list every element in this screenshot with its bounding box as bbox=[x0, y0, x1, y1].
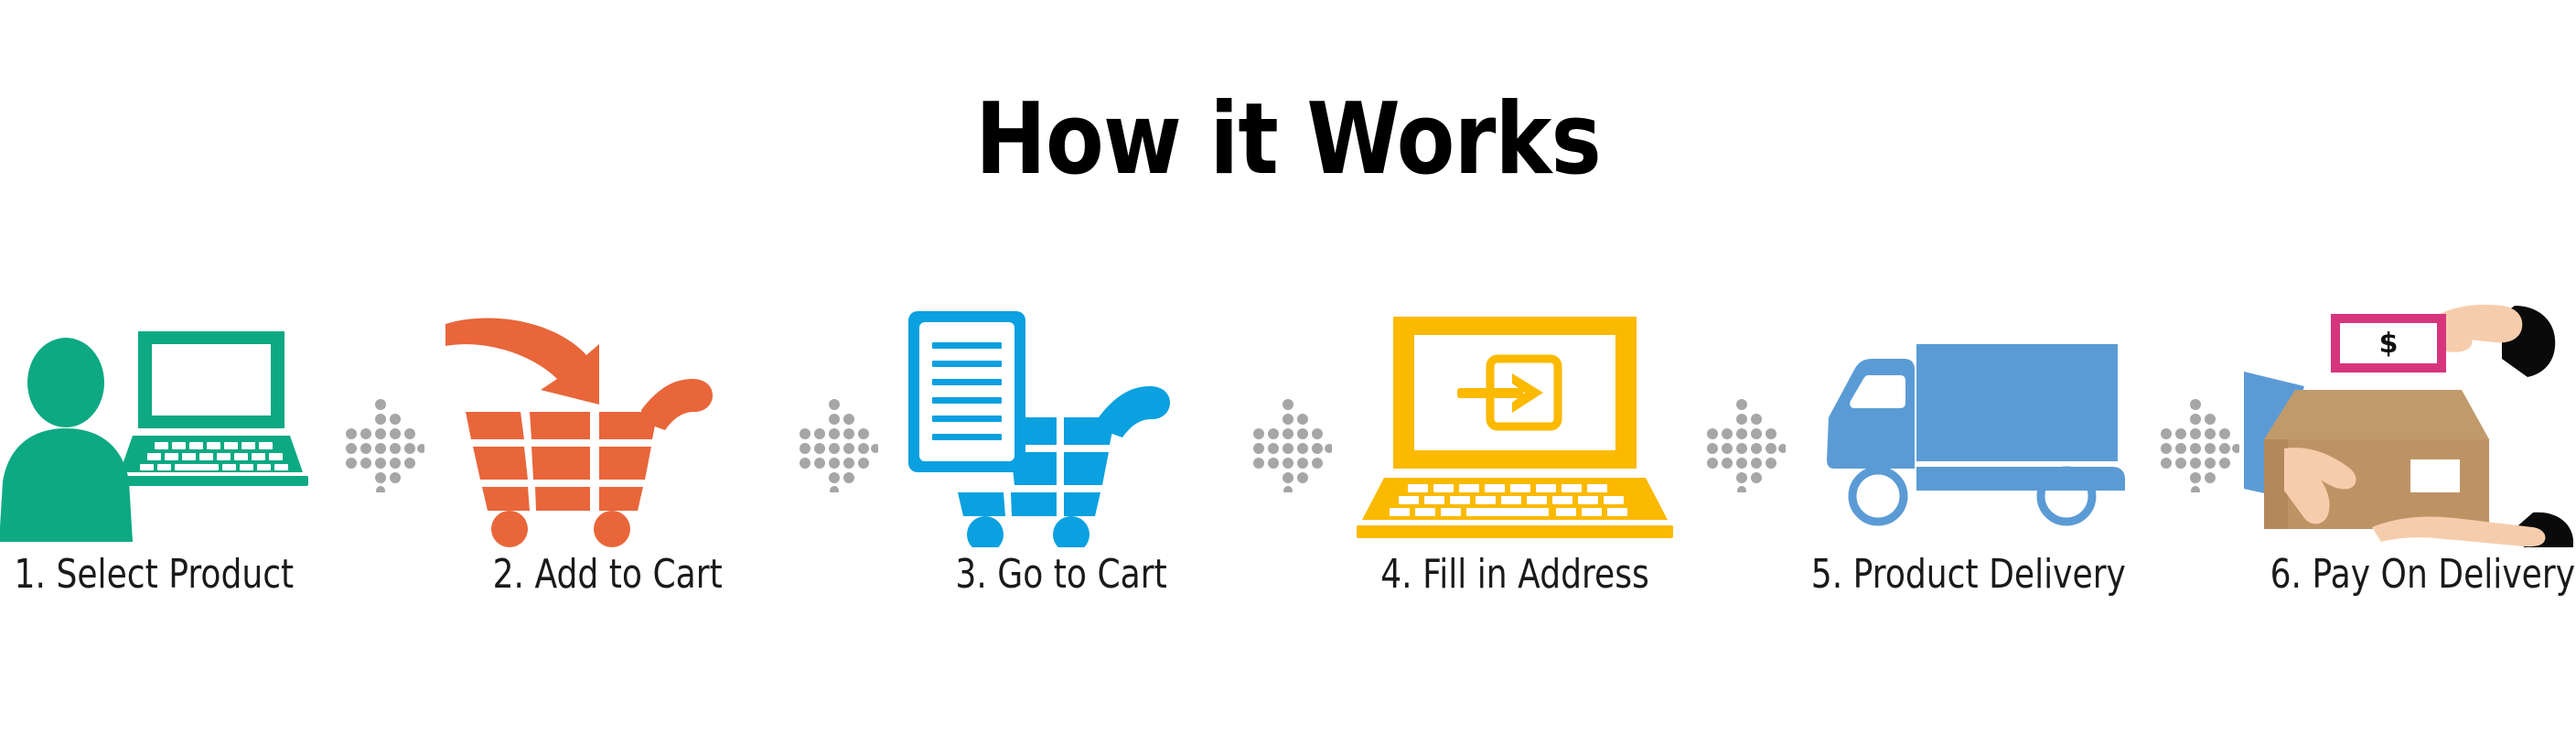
how-it-works-infographic: How it Works bbox=[0, 0, 2576, 745]
person-at-laptop-icon bbox=[0, 302, 332, 547]
banknote: $ bbox=[2335, 319, 2442, 368]
step-3-label: 3. Go to Cart bbox=[955, 553, 1166, 597]
step-5-product-delivery[interactable]: 5. Product Delivery bbox=[1790, 302, 2147, 632]
step-4-label: 4. Fill in Address bbox=[1380, 553, 1649, 597]
dotted-arrow-right-icon bbox=[2147, 302, 2244, 632]
step-2-add-to-cart[interactable]: 2. Add to Cart bbox=[429, 302, 786, 632]
dotted-arrow-right-icon bbox=[1693, 302, 1790, 632]
dotted-arrow-right-icon bbox=[332, 302, 429, 632]
step-5-label: 5. Product Delivery bbox=[1811, 553, 2126, 597]
svg-text:$: $ bbox=[2379, 328, 2399, 360]
delivery-truck-icon bbox=[1790, 302, 2147, 547]
step-6-pay-on-delivery[interactable]: $ bbox=[2244, 302, 2576, 632]
step-3-go-to-cart[interactable]: 3. Go to Cart bbox=[883, 302, 1240, 632]
dotted-arrow-right-icon bbox=[786, 302, 883, 632]
cart-with-arrow-icon bbox=[429, 302, 786, 547]
steps-row: 1. Select Product bbox=[0, 302, 2576, 632]
page-title: How it Works bbox=[180, 88, 2396, 191]
document-and-cart-icon bbox=[883, 302, 1240, 547]
dotted-arrow-right-icon bbox=[1240, 302, 1336, 632]
step-4-fill-in-address[interactable]: 4. Fill in Address bbox=[1336, 302, 1693, 632]
hands-box-cash-icon: $ bbox=[2244, 302, 2576, 547]
step-2-label: 2. Add to Cart bbox=[492, 553, 722, 597]
step-6-label: 6. Pay On Delivery bbox=[2270, 553, 2574, 597]
step-1-label: 1. Select Product bbox=[14, 553, 294, 597]
laptop-login-icon bbox=[1336, 302, 1693, 547]
step-1-select-product[interactable]: 1. Select Product bbox=[0, 302, 332, 632]
